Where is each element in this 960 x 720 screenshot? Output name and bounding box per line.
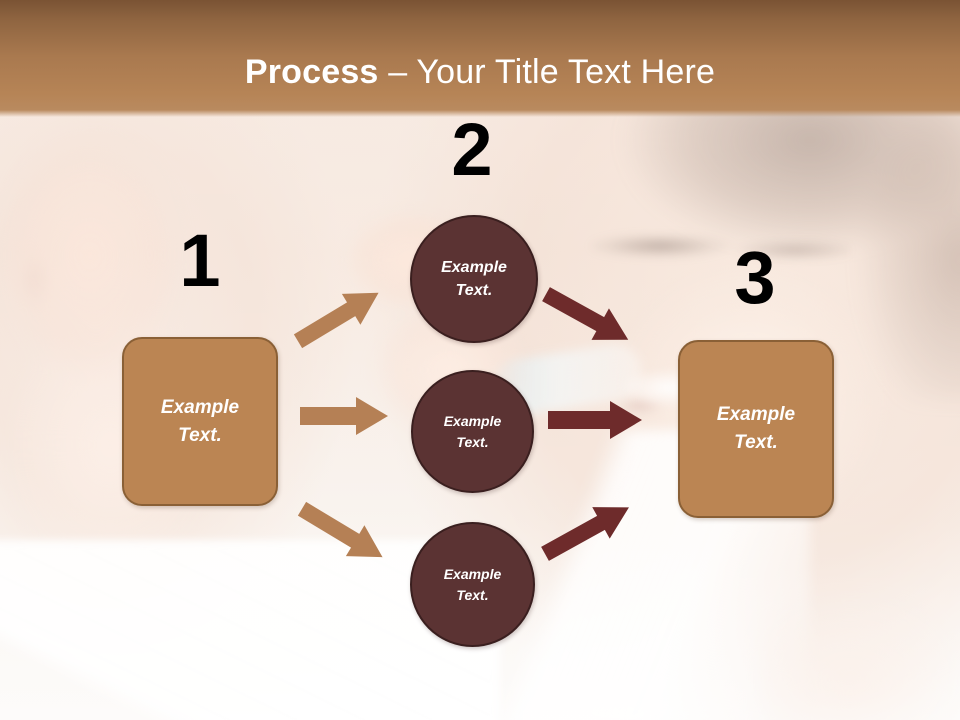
process-box-left[interactable]: Example Text. [122, 337, 278, 506]
process-circle-middle-line2: Text. [444, 432, 502, 453]
process-box-right-text: Example Text. [717, 401, 795, 457]
arrow-up-right-shape [289, 277, 388, 356]
process-box-left-line2: Text. [161, 422, 239, 450]
process-circle-middle-line1: Example [444, 411, 502, 432]
arrow-down-right-shape [293, 493, 392, 572]
arrow-down-right-shape [537, 278, 637, 355]
process-box-left-text: Example Text. [161, 394, 239, 450]
process-circle-bottom-text: Example Text. [444, 564, 502, 606]
process-circle-top[interactable]: Example Text. [410, 215, 538, 343]
step-number-3: 3 [700, 241, 810, 315]
arrow-right-icon [548, 400, 646, 442]
process-circle-middle[interactable]: Example Text. [411, 370, 534, 493]
process-circle-top-line2: Text. [441, 279, 507, 302]
step-number-2: 2 [417, 113, 527, 187]
arrow-up-right-icon [296, 276, 396, 348]
process-circle-bottom[interactable]: Example Text. [410, 522, 535, 647]
step-number-1: 1 [145, 224, 255, 298]
arrow-right-shape [300, 397, 388, 435]
process-circle-top-text: Example Text. [441, 256, 507, 302]
process-circle-middle-text: Example Text. [444, 411, 502, 453]
process-circle-top-line1: Example [441, 256, 507, 279]
arrow-right-shape [548, 401, 642, 439]
page-title-rest: – Your Title Text Here [379, 53, 716, 91]
process-box-right[interactable]: Example Text. [678, 340, 834, 518]
process-box-right-line2: Text. [717, 429, 795, 457]
arrow-down-right-icon [545, 286, 650, 356]
slide-canvas: Process – Your Title Text Here 1 2 3 Exa… [0, 0, 960, 720]
process-box-right-line1: Example [717, 401, 795, 429]
arrow-right-icon [300, 396, 390, 438]
page-title: Process – Your Title Text Here [0, 52, 960, 92]
process-circle-bottom-line2: Text. [444, 585, 502, 606]
arrow-up-right-shape [536, 492, 637, 570]
arrow-up-right-icon [544, 500, 652, 570]
title-bar: Process – Your Title Text Here [0, 0, 960, 117]
process-box-left-line1: Example [161, 394, 239, 422]
arrow-down-right-icon [300, 502, 400, 574]
page-title-strong: Process [245, 53, 379, 91]
process-circle-bottom-line1: Example [444, 564, 502, 585]
